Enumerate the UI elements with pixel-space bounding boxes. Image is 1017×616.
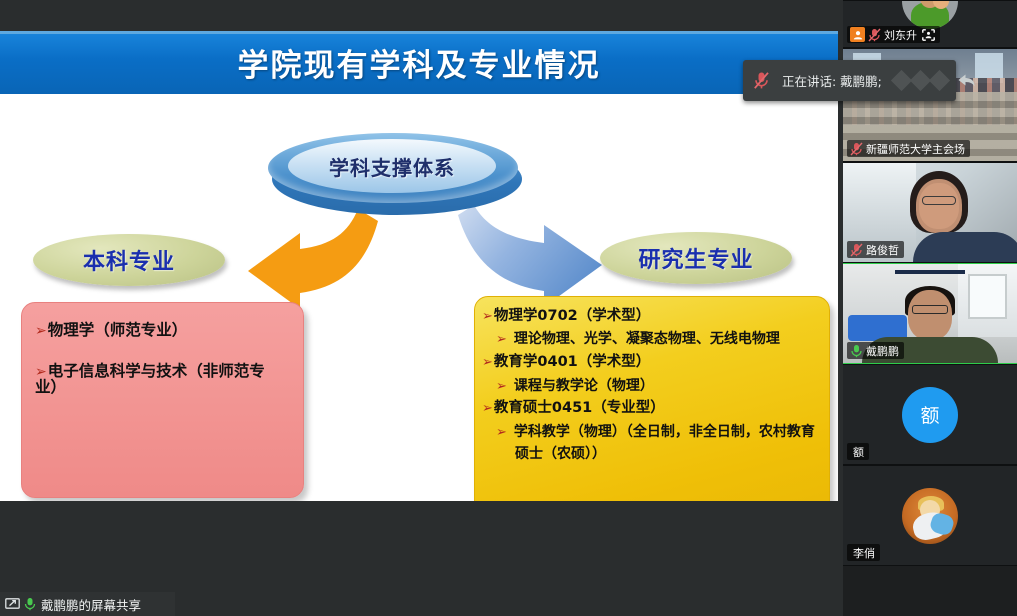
- bullet-icon: ➢: [35, 323, 47, 339]
- speaking-text: 正在讲话: 戴鹏鹏;: [779, 71, 882, 90]
- participant-nameplate: 新疆师范大学主会场: [847, 140, 970, 157]
- bullet-icon: ➢: [496, 379, 507, 394]
- mic-muted-icon: [850, 142, 863, 156]
- mic-on-icon: [24, 597, 36, 611]
- screen-share-icon: [5, 598, 20, 611]
- list-item: ➢电子信息科学与技术（非师范专业）: [35, 363, 287, 396]
- zoom-meeting-window: 学院现有学科及专业情况: [0, 0, 1017, 616]
- slide-title-banner: 学院现有学科及专业情况: [0, 31, 838, 94]
- participant-tile[interactable]: 李俏: [843, 465, 1017, 566]
- graduate-pill-label: 研究生专业: [638, 242, 753, 274]
- bullet-icon: ➢: [496, 425, 507, 440]
- avatar: 额: [843, 365, 1017, 464]
- list-item: ➢课程与教学论（物理）: [482, 375, 820, 398]
- audio-level-icon: [882, 73, 957, 88]
- bullet-icon: ➢: [482, 401, 493, 416]
- participant-nameplate: 戴鹏鹏: [847, 342, 904, 359]
- bullet-icon: ➢: [35, 364, 47, 380]
- participant-nameplate: 额: [847, 443, 869, 460]
- list-item: ➢物理学（师范专业）: [35, 322, 287, 339]
- slide-title: 学院现有学科及专业情况: [0, 31, 838, 94]
- mic-muted-icon: [868, 28, 881, 42]
- participant-tile[interactable]: 刘东升: [843, 0, 1017, 48]
- back-arrow-icon[interactable]: [957, 73, 976, 88]
- presentation-slide: 学院现有学科及专业情况: [0, 31, 838, 501]
- bullet-icon: ➢: [482, 309, 493, 324]
- graduate-majors-box: ➢物理学0702（学术型） ➢理论物理、光学、凝聚态物理、无线电物理 ➢教育学0…: [474, 296, 830, 501]
- participant-tile[interactable]: 额 额: [843, 364, 1017, 465]
- phone-avatar-icon: [902, 0, 958, 29]
- participant-nameplate: 李俏: [847, 544, 880, 561]
- participant-tile[interactable]: 路俊哲: [843, 162, 1017, 263]
- undergraduate-majors-box: ➢物理学（师范专业） ➢电子信息科学与技术（非师范专业）: [21, 302, 304, 498]
- bullet-icon: ➢: [496, 332, 507, 347]
- mic-muted-icon: [850, 243, 863, 257]
- hub-label: 学科支撑体系: [288, 139, 496, 193]
- participant-nameplate: 路俊哲: [847, 241, 904, 258]
- picture-avatar: [902, 488, 958, 544]
- participant-name: 戴鹏鹏: [866, 343, 899, 359]
- mic-on-icon: [850, 344, 863, 358]
- participant-nameplate: 刘东升: [847, 26, 940, 43]
- screen-share-label: 戴鹏鹏的屏幕共享: [41, 595, 141, 614]
- mic-muted-icon[interactable]: [743, 71, 779, 90]
- initial-avatar: 额: [902, 387, 958, 443]
- screen-share-status-bar[interactable]: 戴鹏鹏的屏幕共享: [0, 592, 175, 616]
- list-item: ➢教育硕士0451（专业型）: [482, 397, 820, 420]
- participant-name: 李俏: [853, 545, 875, 561]
- graduate-pill: 研究生专业: [600, 232, 792, 284]
- participant-name: 路俊哲: [866, 242, 899, 258]
- speaking-mic-segment[interactable]: 正在讲话: 戴鹏鹏;: [743, 60, 882, 101]
- undergraduate-pill-label: 本科专业: [83, 244, 175, 276]
- list-item: ➢学科教学（物理）（全日制，非全日制，农村教育硕士（农硕））: [482, 421, 820, 466]
- hub-shape: 学科支撑体系: [266, 129, 524, 217]
- speaking-toolbar[interactable]: 正在讲话: 戴鹏鹏;: [743, 60, 956, 101]
- bullet-icon: ➢: [482, 355, 493, 370]
- list-item: ➢物理学0702（学术型）: [482, 305, 820, 328]
- participant-name: 刘东升: [884, 27, 917, 43]
- participant-tile-active-speaker[interactable]: 戴鹏鹏: [843, 263, 1017, 364]
- shared-screen-area: 学院现有学科及专业情况: [0, 0, 840, 616]
- video-frame-icon: [922, 29, 935, 41]
- list-item: ➢理论物理、光学、凝聚态物理、无线电物理: [482, 328, 820, 351]
- participant-name: 额: [853, 444, 864, 460]
- participant-name: 新疆师范大学主会场: [866, 141, 965, 157]
- host-badge-icon: [850, 27, 865, 42]
- list-item: ➢教育学0401（学术型）: [482, 351, 820, 374]
- undergraduate-pill: 本科专业: [33, 234, 225, 286]
